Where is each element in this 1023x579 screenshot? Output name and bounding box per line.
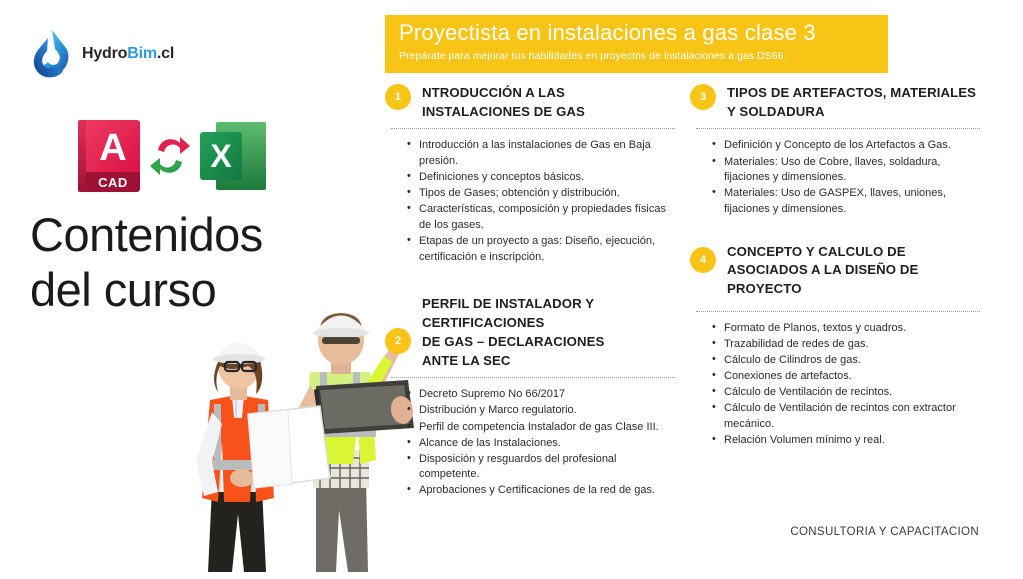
autocad-label: CAD bbox=[86, 172, 140, 192]
section-4-bullets: Formato de Planos, textos y cuadros. Tra… bbox=[712, 321, 980, 449]
footer-tagline: CONSULTORIA Y CAPACITACION bbox=[790, 526, 979, 538]
list-item: Relación Volumen mínimo y real. bbox=[712, 433, 980, 449]
list-item: Etapas de un proyecto a gas: Diseño, eje… bbox=[407, 234, 675, 265]
section-2-header: 2 PERFIL DE INSTALADOR Y CERTIFICACIONES… bbox=[385, 295, 675, 370]
banner-title: Proyectista en instalaciones a gas clase… bbox=[399, 19, 874, 47]
section-2: 2 PERFIL DE INSTALADOR Y CERTIFICACIONES… bbox=[385, 295, 675, 499]
content-column-left: 1 NTRODUCCIÓN A LAS INSTALACIONES DE GAS… bbox=[385, 84, 675, 503]
content-column-right: 3 TIPOS DE ARTEFACTOS, MATERIALES Y SOLD… bbox=[690, 84, 980, 453]
section-4-title-line2: ASOCIADOS A LA DISEÑO DE bbox=[727, 261, 918, 280]
app-icons-row: A CAD X bbox=[78, 120, 266, 192]
section-1-title-line2: INSTALACIONES DE GAS bbox=[422, 103, 585, 122]
list-item: Definición y Concepto de los Artefactos … bbox=[712, 138, 980, 154]
brand-name-part1: Hydro bbox=[82, 45, 127, 62]
section-4-divider bbox=[696, 311, 980, 312]
brand-name-part3: .cl bbox=[157, 45, 174, 62]
list-item: Alcance de las Instalaciones. bbox=[407, 436, 675, 452]
brand-name: HydroBim.cl bbox=[82, 45, 174, 63]
section-4-header: 4 CONCEPTO Y CALCULO DE ASOCIADOS A LA D… bbox=[690, 243, 980, 299]
list-item: Conexiones de artefactos. bbox=[712, 369, 980, 385]
section-1-header: 1 NTRODUCCIÓN A LAS INSTALACIONES DE GAS bbox=[385, 84, 675, 121]
section-2-title-line1: PERFIL DE INSTALADOR Y bbox=[422, 295, 604, 314]
section-1-divider bbox=[391, 128, 675, 129]
list-item: Introducción a las instalaciones de Gas … bbox=[407, 138, 675, 169]
section-3-title-line2: Y SOLDADURA bbox=[727, 103, 976, 122]
section-4-title-line1: CONCEPTO Y CALCULO DE bbox=[727, 243, 918, 262]
list-item: Cálculo de Cilindros de gas. bbox=[712, 353, 980, 369]
water-drop-icon bbox=[28, 28, 72, 80]
list-item: Formato de Planos, textos y cuadros. bbox=[712, 321, 980, 337]
section-2-badge: 2 bbox=[385, 328, 411, 354]
excel-icon: X bbox=[200, 122, 266, 190]
list-item: Materiales: Uso de GASPEX, llaves, union… bbox=[712, 186, 980, 217]
section-3-badge: 3 bbox=[690, 84, 716, 110]
section-2-title: PERFIL DE INSTALADOR Y CERTIFICACIONES D… bbox=[422, 295, 604, 370]
list-item: Tipos de Gases; obtención y distribución… bbox=[407, 186, 675, 202]
section-1-title: NTRODUCCIÓN A LAS INSTALACIONES DE GAS bbox=[422, 84, 585, 121]
excel-letter: X bbox=[210, 140, 231, 172]
list-item: Distribución y Marco regulatorio. bbox=[407, 403, 675, 419]
section-2-title-line3: DE GAS – DECLARACIONES bbox=[422, 333, 604, 352]
section-3-header: 3 TIPOS DE ARTEFACTOS, MATERIALES Y SOLD… bbox=[690, 84, 980, 121]
autocad-letter: A bbox=[99, 129, 126, 167]
section-2-title-line2: CERTIFICACIONES bbox=[422, 314, 604, 333]
section-2-divider bbox=[391, 377, 675, 378]
list-item: Aprobaciones y Certificaciones de la red… bbox=[407, 483, 675, 499]
page-title-line1: Contenidos bbox=[30, 208, 263, 263]
list-item: Materiales: Uso de Cobre, llaves, soldad… bbox=[712, 155, 980, 186]
construction-workers-photo bbox=[170, 300, 420, 574]
section-2-bullets: Decreto Supremo No 66/2017 Distribución … bbox=[407, 387, 675, 499]
section-2-title-line4: ANTE LA SEC bbox=[422, 352, 604, 371]
section-3-title-line1: TIPOS DE ARTEFACTOS, MATERIALES bbox=[727, 84, 976, 103]
section-4-title-line3: PROYECTO bbox=[727, 280, 918, 299]
section-4: 4 CONCEPTO Y CALCULO DE ASOCIADOS A LA D… bbox=[690, 243, 980, 449]
autocad-icon: A CAD bbox=[78, 120, 140, 192]
list-item: Definiciones y conceptos básicos. bbox=[407, 170, 675, 186]
list-item: Trazabilidad de redes de gas. bbox=[712, 337, 980, 353]
brand-name-part2: Bim bbox=[127, 45, 157, 62]
section-4-title: CONCEPTO Y CALCULO DE ASOCIADOS A LA DIS… bbox=[727, 243, 918, 299]
list-item: Decreto Supremo No 66/2017 bbox=[407, 387, 675, 403]
section-4-badge: 4 bbox=[690, 247, 716, 273]
banner-subtitle: Prepárate para mejorar tus habilidades e… bbox=[399, 50, 874, 63]
section-1-badge: 1 bbox=[385, 84, 411, 110]
list-item: Características, composición y propiedad… bbox=[407, 202, 675, 233]
section-3-bullets: Definición y Concepto de los Artefactos … bbox=[712, 138, 980, 217]
section-1-bullets: Introducción a las instalaciones de Gas … bbox=[407, 138, 675, 265]
autocad-body: A bbox=[86, 120, 140, 178]
course-banner: Proyectista en instalaciones a gas clase… bbox=[385, 15, 888, 73]
sync-arrows-icon bbox=[148, 132, 192, 180]
section-3-title: TIPOS DE ARTEFACTOS, MATERIALES Y SOLDAD… bbox=[727, 84, 976, 121]
list-item: Perfil de competencia Instalador de gas … bbox=[407, 420, 675, 436]
list-item: Cálculo de Ventilación de recintos con e… bbox=[712, 401, 980, 432]
section-3: 3 TIPOS DE ARTEFACTOS, MATERIALES Y SOLD… bbox=[690, 84, 980, 218]
brand-logo[interactable]: HydroBim.cl bbox=[28, 28, 174, 80]
list-item: Disposición y resguardos del profesional… bbox=[407, 452, 675, 483]
section-1-title-line1: NTRODUCCIÓN A LAS bbox=[422, 84, 585, 103]
section-3-divider bbox=[696, 128, 980, 129]
excel-tile: X bbox=[200, 132, 242, 180]
section-1: 1 NTRODUCCIÓN A LAS INSTALACIONES DE GAS… bbox=[385, 84, 675, 265]
list-item: Cálculo de Ventilación de recintos. bbox=[712, 385, 980, 401]
